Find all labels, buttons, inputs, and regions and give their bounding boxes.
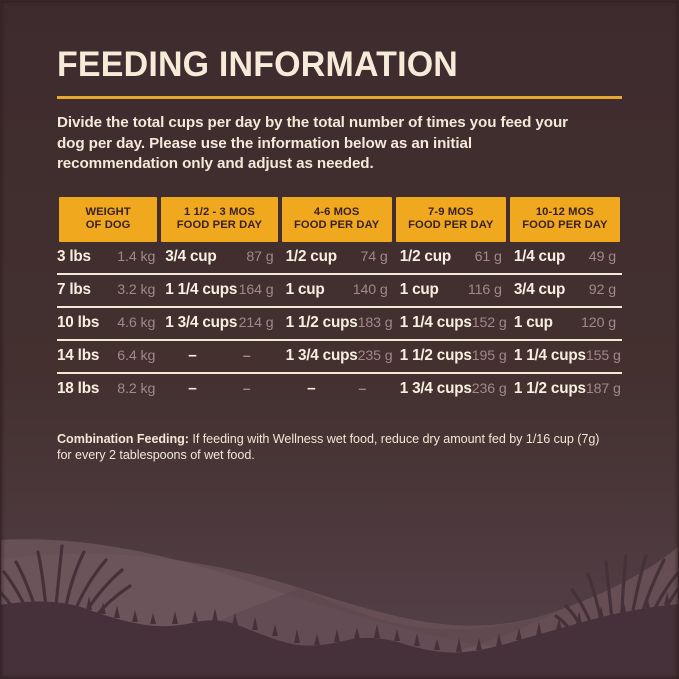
cell-1-5-to-3-mos: – – <box>159 373 279 405</box>
cell-10-12-mos: 1 cup 120 g <box>508 307 622 340</box>
column-header-line2: OF DOG <box>61 219 155 233</box>
amount-cups: 3/4 cup <box>165 248 216 266</box>
amount-grams: 92 g <box>589 282 616 298</box>
cell-7-9-mos: 1 1/4 cups 152 g <box>394 307 508 340</box>
cell-7-9-mos: 1/2 cup 61 g <box>394 242 508 274</box>
amount-grams: – <box>243 381 251 397</box>
amount-grams: 214 g <box>239 315 274 331</box>
weight-kg: 6.4 kg <box>117 348 155 364</box>
amount-cups: 1 cup <box>286 281 325 299</box>
cell-weight: 3 lbs 1.4 kg <box>57 242 159 274</box>
cell-4-6-mos: – – <box>280 373 394 405</box>
amount-cups: – <box>188 347 196 365</box>
table-row: 7 lbs 3.2 kg 1 1/4 cups 164 g 1 cup <box>57 274 622 307</box>
weight-kg: 3.2 kg <box>117 282 155 298</box>
intro-paragraph: Divide the total cups per day by the tot… <box>57 99 587 175</box>
amount-grams: 187 g <box>586 381 621 397</box>
amount-grams: 87 g <box>246 249 273 265</box>
amount-grams: – <box>243 348 251 364</box>
amount-grams: 235 g <box>358 348 393 364</box>
cell-4-6-mos: 1 1/2 cups 183 g <box>280 307 394 340</box>
cell-4-6-mos: 1 3/4 cups 235 g <box>280 340 394 373</box>
column-header-line2: FOOD PER DAY <box>284 219 390 233</box>
column-header-line2: FOOD PER DAY <box>512 219 618 233</box>
amount-cups: 3/4 cup <box>514 281 565 299</box>
amount-grams: 236 g <box>472 381 507 397</box>
cell-weight: 14 lbs 6.4 kg <box>57 340 159 373</box>
amount-grams: 140 g <box>353 282 388 298</box>
amount-cups: 1 1/4 cups <box>400 314 472 332</box>
cell-10-12-mos: 1 1/2 cups 187 g <box>508 373 622 405</box>
amount-grams: 155 g <box>586 348 621 364</box>
amount-cups: 1 3/4 cups <box>400 380 472 398</box>
column-header-1-5-to-3-mos: 1 1/2 - 3 MOS FOOD PER DAY <box>159 197 279 242</box>
amount-grams: 120 g <box>581 315 616 331</box>
amount-grams: 183 g <box>358 315 393 331</box>
column-header-line2: FOOD PER DAY <box>163 219 275 233</box>
cell-1-5-to-3-mos: 3/4 cup 87 g <box>159 242 279 274</box>
combination-feeding-note: Combination Feeding: If feeding with Wel… <box>57 405 617 464</box>
feeding-table: WEIGHT OF DOG 1 1/2 - 3 MOS FOOD PER DAY… <box>57 197 622 405</box>
amount-cups: 1/2 cup <box>400 248 451 266</box>
amount-cups: 1 1/2 cups <box>286 314 358 332</box>
cell-10-12-mos: 1 1/4 cups 155 g <box>508 340 622 373</box>
amount-grams: 61 g <box>475 249 502 265</box>
amount-cups: 1/4 cup <box>514 248 565 266</box>
column-header-line1: 1 1/2 - 3 MOS <box>184 206 255 218</box>
amount-cups: 1 cup <box>400 281 439 299</box>
amount-cups: 1 1/4 cups <box>165 281 237 299</box>
amount-grams: 116 g <box>468 282 502 298</box>
combination-feeding-label: Combination Feeding: <box>57 432 189 446</box>
cell-10-12-mos: 1/4 cup 49 g <box>508 242 622 274</box>
weight-kg: 1.4 kg <box>117 249 155 265</box>
table-header-row: WEIGHT OF DOG 1 1/2 - 3 MOS FOOD PER DAY… <box>57 197 622 242</box>
cell-10-12-mos: 3/4 cup 92 g <box>508 274 622 307</box>
column-header-10-12-mos: 10-12 MOS FOOD PER DAY <box>508 197 622 242</box>
table-row: 18 lbs 8.2 kg – – – – <box>57 373 622 405</box>
table-row: 3 lbs 1.4 kg 3/4 cup 87 g 1/2 cup <box>57 242 622 274</box>
cell-1-5-to-3-mos: – – <box>159 340 279 373</box>
content-area: FEEDING INFORMATION Divide the total cup… <box>0 0 679 464</box>
column-header-line1: 4-6 MOS <box>314 206 359 218</box>
table-body: 3 lbs 1.4 kg 3/4 cup 87 g 1/2 cup <box>57 242 622 405</box>
amount-cups: – <box>307 380 315 398</box>
table-row: 14 lbs 6.4 kg – – 1 3/4 cups 235 g <box>57 340 622 373</box>
cell-7-9-mos: 1 1/2 cups 195 g <box>394 340 508 373</box>
column-header-line2: FOOD PER DAY <box>398 219 504 233</box>
amount-cups: 1 1/4 cups <box>514 347 586 365</box>
column-header-line1: WEIGHT <box>85 206 130 218</box>
amount-cups: 1 1/2 cups <box>400 347 472 365</box>
cell-7-9-mos: 1 3/4 cups 236 g <box>394 373 508 405</box>
cell-weight: 7 lbs 3.2 kg <box>57 274 159 307</box>
cell-4-6-mos: 1 cup 140 g <box>280 274 394 307</box>
weight-lbs: 10 lbs <box>57 314 99 332</box>
amount-grams: 152 g <box>472 315 507 331</box>
weight-kg: 8.2 kg <box>117 381 155 397</box>
amount-cups: 1 cup <box>514 314 553 332</box>
table-row: 10 lbs 4.6 kg 1 3/4 cups 214 g 1 1/2 cup… <box>57 307 622 340</box>
weight-kg: 4.6 kg <box>117 315 155 331</box>
cell-4-6-mos: 1/2 cup 74 g <box>280 242 394 274</box>
weight-lbs: 7 lbs <box>57 281 91 299</box>
column-header-weight: WEIGHT OF DOG <box>57 197 159 242</box>
amount-grams: 74 g <box>361 249 388 265</box>
amount-grams: 49 g <box>589 249 616 265</box>
amount-cups: 1 3/4 cups <box>165 314 237 332</box>
cell-weight: 18 lbs 8.2 kg <box>57 373 159 405</box>
weight-lbs: 18 lbs <box>57 380 99 398</box>
page-title: FEEDING INFORMATION <box>57 0 605 85</box>
feeding-information-panel: FEEDING INFORMATION Divide the total cup… <box>0 0 679 679</box>
amount-cups: 1 1/2 cups <box>514 380 586 398</box>
cell-7-9-mos: 1 cup 116 g <box>394 274 508 307</box>
column-header-4-6-mos: 4-6 MOS FOOD PER DAY <box>280 197 394 242</box>
column-header-line1: 10-12 MOS <box>536 206 594 218</box>
column-header-line1: 7-9 MOS <box>428 206 473 218</box>
amount-grams: 195 g <box>472 348 507 364</box>
cell-1-5-to-3-mos: 1 1/4 cups 164 g <box>159 274 279 307</box>
column-header-7-9-mos: 7-9 MOS FOOD PER DAY <box>394 197 508 242</box>
amount-cups: – <box>188 380 196 398</box>
amount-cups: 1/2 cup <box>286 248 337 266</box>
amount-grams: – <box>358 381 366 397</box>
cell-1-5-to-3-mos: 1 3/4 cups 214 g <box>159 307 279 340</box>
cell-weight: 10 lbs 4.6 kg <box>57 307 159 340</box>
weight-lbs: 3 lbs <box>57 248 91 266</box>
amount-grams: 164 g <box>239 282 274 298</box>
weight-lbs: 14 lbs <box>57 347 99 365</box>
amount-cups: 1 3/4 cups <box>286 347 358 365</box>
